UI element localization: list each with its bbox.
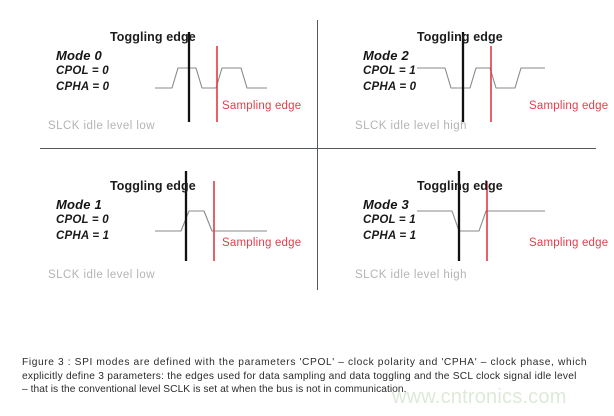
toggling-edge-label: Toggling edge [417, 179, 503, 193]
sampling-edge-label: Sampling edge [222, 237, 301, 249]
idle-level-note: SLCK idle level low [48, 269, 155, 281]
toggling-edge-label: Toggling edge [417, 30, 503, 44]
cpha-value: CPHA = 1 [363, 229, 416, 245]
toggling-edge-label: Toggling edge [110, 30, 196, 44]
idle-level-note: SLCK idle level high [355, 269, 467, 281]
site-watermark: www.cntronics.com [392, 386, 567, 409]
quadrant-mode-1: Toggling edge Mode 1 CPOL = 0 CPHA = 1 S… [0, 149, 307, 297]
mode-title: Mode 0 [56, 48, 109, 64]
mode-title: Mode 2 [363, 48, 416, 64]
sampling-edge-label: Sampling edge [529, 237, 608, 249]
mode-info-block: Mode 0 CPOL = 0 CPHA = 0 [56, 48, 109, 95]
quadrant-mode-0: Toggling edge Mode 0 CPOL = 0 CPHA = 0 S… [0, 0, 307, 148]
mode-info-block: Mode 2 CPOL = 1 CPHA = 0 [363, 48, 416, 95]
cpol-value: CPOL = 0 [56, 213, 109, 229]
idle-level-note: SLCK idle level low [48, 120, 155, 132]
toggling-edge-label: Toggling edge [110, 179, 196, 193]
idle-level-note: SLCK idle level high [355, 120, 467, 132]
mode-title: Mode 1 [56, 197, 109, 213]
sampling-edge-label: Sampling edge [222, 100, 301, 112]
cpha-value: CPHA = 0 [363, 80, 416, 96]
cpha-value: CPHA = 1 [56, 229, 109, 245]
mode-info-block: Mode 3 CPOL = 1 CPHA = 1 [363, 197, 416, 244]
caption-line-2: explicitly define 3 parameters: the edge… [22, 370, 600, 384]
sampling-edge-label: Sampling edge [529, 100, 608, 112]
caption-line-1: Figure 3 : SPI modes are defined with th… [22, 356, 600, 370]
quadrant-mode-2: Toggling edge Mode 2 CPOL = 1 CPHA = 0 S… [307, 0, 614, 148]
cpha-value: CPHA = 0 [56, 80, 109, 96]
cpol-value: CPOL = 1 [363, 213, 416, 229]
spi-modes-figure: Toggling edge Mode 0 CPOL = 0 CPHA = 0 S… [0, 0, 614, 416]
cpol-value: CPOL = 0 [56, 64, 109, 80]
quadrant-mode-3: Toggling edge Mode 3 CPOL = 1 CPHA = 1 S… [307, 149, 614, 297]
cpol-value: CPOL = 1 [363, 64, 416, 80]
mode-info-block: Mode 1 CPOL = 0 CPHA = 1 [56, 197, 109, 244]
mode-title: Mode 3 [363, 197, 416, 213]
